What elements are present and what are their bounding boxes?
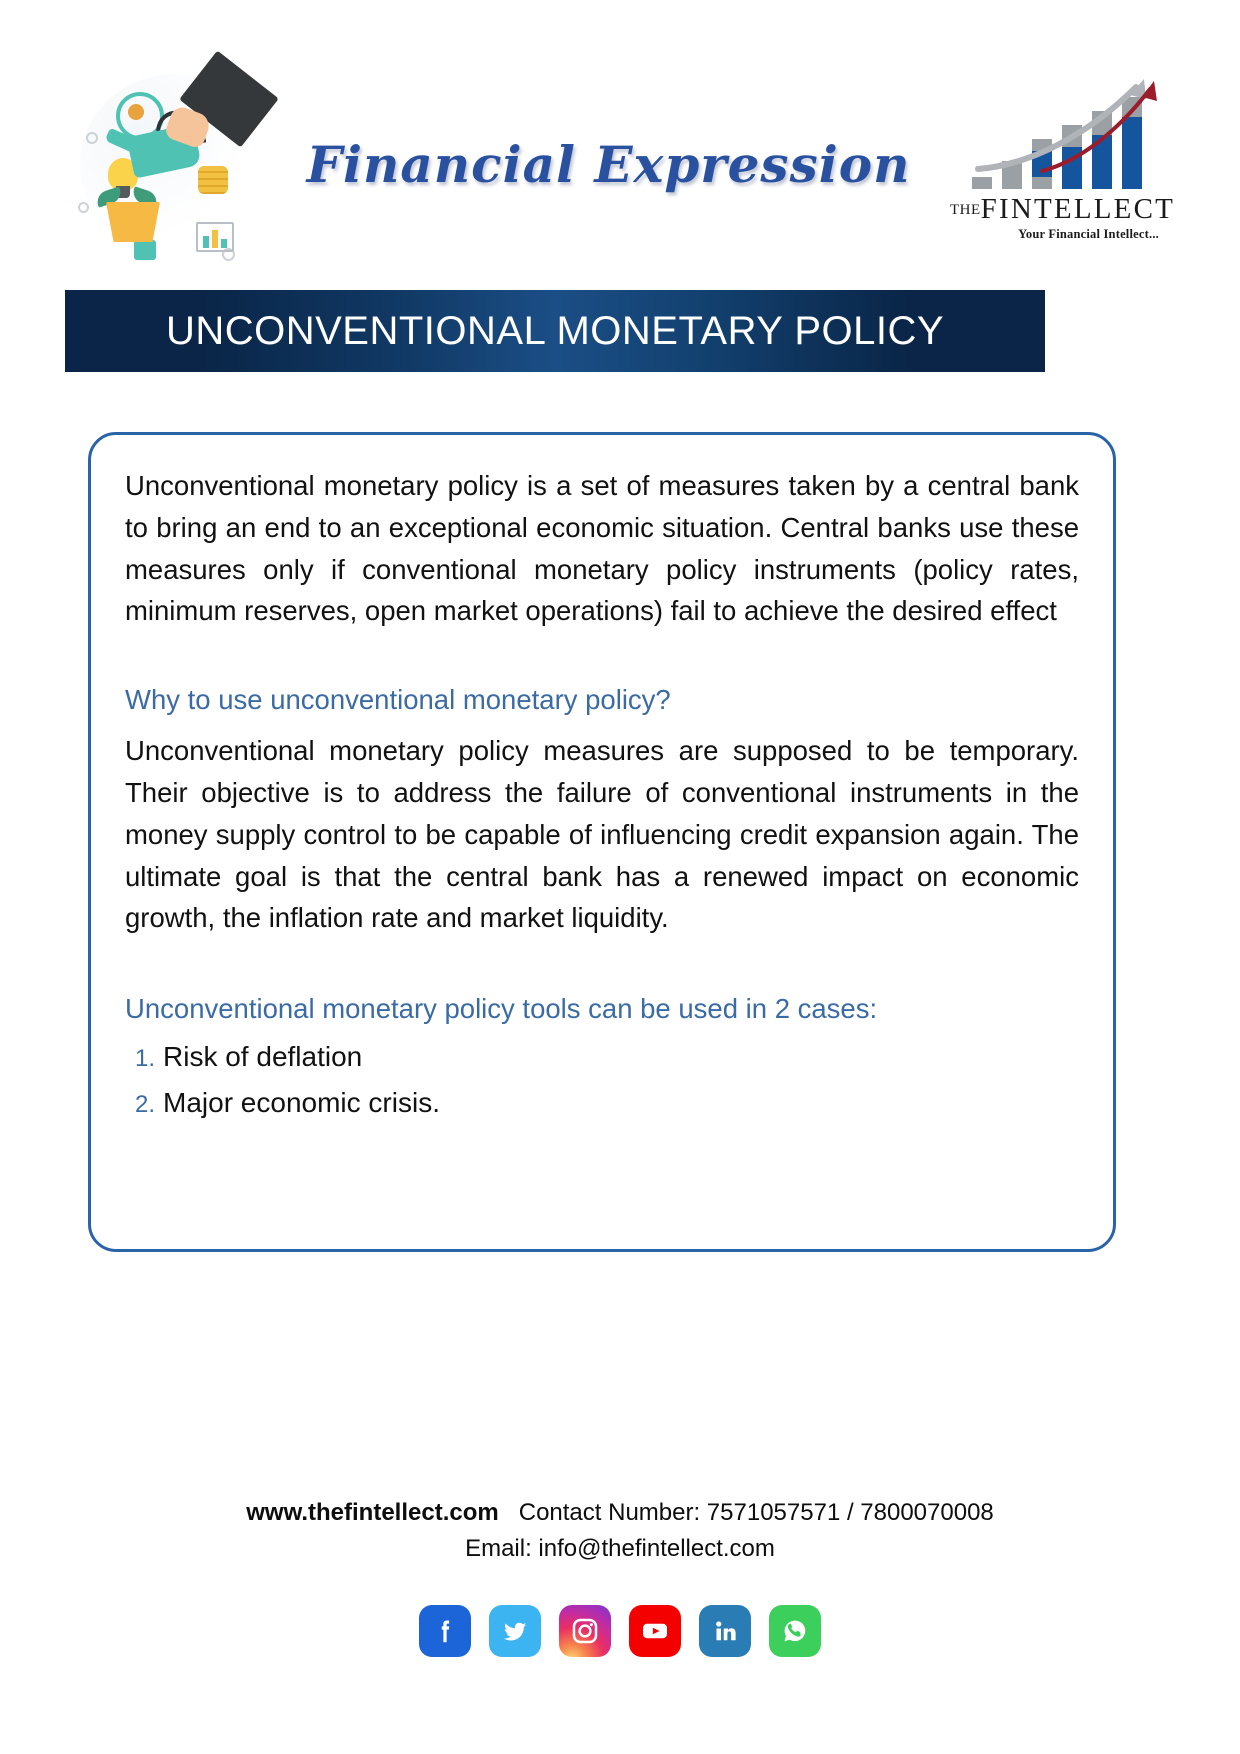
facebook-glyph	[430, 1616, 460, 1646]
linkedin-glyph	[710, 1616, 740, 1646]
banner-title: UNCONVENTIONAL MONETARY POLICY	[166, 309, 944, 354]
logo-growth-chart-icon	[960, 73, 1160, 198]
list-item-number: 2.	[135, 1091, 155, 1119]
bar-chart-icon	[196, 222, 234, 252]
logo-wordmark: THEFINTELLECT	[950, 193, 1165, 226]
website-link[interactable]: www.thefintellect.com	[246, 1499, 498, 1526]
list-item-label: Risk of deflation	[163, 1041, 362, 1073]
page-footer: www.thefintellect.com Contact Number: 75…	[0, 1495, 1240, 1567]
business-icons-illustration	[72, 62, 287, 267]
twitter-glyph	[499, 1615, 531, 1647]
logo-tagline: Your Financial Intellect...	[950, 227, 1165, 242]
youtube-glyph	[639, 1615, 671, 1647]
social-links	[0, 1605, 1240, 1657]
instagram-icon[interactable]	[559, 1605, 611, 1657]
list-item-label: Major economic crisis.	[163, 1087, 440, 1119]
decor-dot-icon	[78, 202, 89, 213]
flower-pot-icon	[106, 202, 160, 242]
decor-dot-icon	[86, 132, 98, 144]
facebook-icon[interactable]	[419, 1605, 471, 1657]
contact-number: Contact Number: 7571057571 / 7800070008	[519, 1499, 994, 1526]
target-center-icon	[128, 104, 144, 120]
puzzle-piece-icon	[134, 240, 156, 260]
list-item: 2. Major economic crisis.	[135, 1087, 1079, 1119]
why-paragraph: Unconventional monetary policy measures …	[125, 730, 1079, 939]
instagram-glyph	[570, 1616, 600, 1646]
topic-banner: UNCONVENTIONAL MONETARY POLICY	[65, 290, 1045, 372]
page-header: Financial Expression THEFINTELLECT Your …	[0, 52, 1240, 277]
footer-contact-line: www.thefintellect.com Contact Number: 75…	[0, 1495, 1240, 1531]
cases-list: 1. Risk of deflation 2. Major economic c…	[125, 1041, 1079, 1119]
footer-email-line: Email: info@thefintellect.com	[0, 1531, 1240, 1567]
list-item-number: 1.	[135, 1045, 155, 1073]
logo-the-text: THE	[950, 202, 981, 218]
fintellect-logo: THEFINTELLECT Your Financial Intellect..…	[950, 65, 1165, 265]
why-heading: Why to use unconventional monetary polic…	[125, 684, 1079, 716]
logo-name-text: FINTELLECT	[981, 193, 1175, 225]
content-card: Unconventional monetary policy is a set …	[88, 432, 1116, 1252]
linkedin-icon[interactable]	[699, 1605, 751, 1657]
newsletter-title: Financial Expression	[287, 135, 950, 194]
whatsapp-icon[interactable]	[769, 1605, 821, 1657]
twitter-icon[interactable]	[489, 1605, 541, 1657]
tools-heading: Unconventional monetary policy tools can…	[125, 993, 1079, 1025]
whatsapp-glyph	[779, 1615, 811, 1647]
coin-stack-icon	[198, 166, 228, 194]
intro-paragraph: Unconventional monetary policy is a set …	[125, 465, 1079, 632]
email-address[interactable]: Email: info@thefintellect.com	[465, 1535, 775, 1562]
list-item: 1. Risk of deflation	[135, 1041, 1079, 1073]
youtube-icon[interactable]	[629, 1605, 681, 1657]
